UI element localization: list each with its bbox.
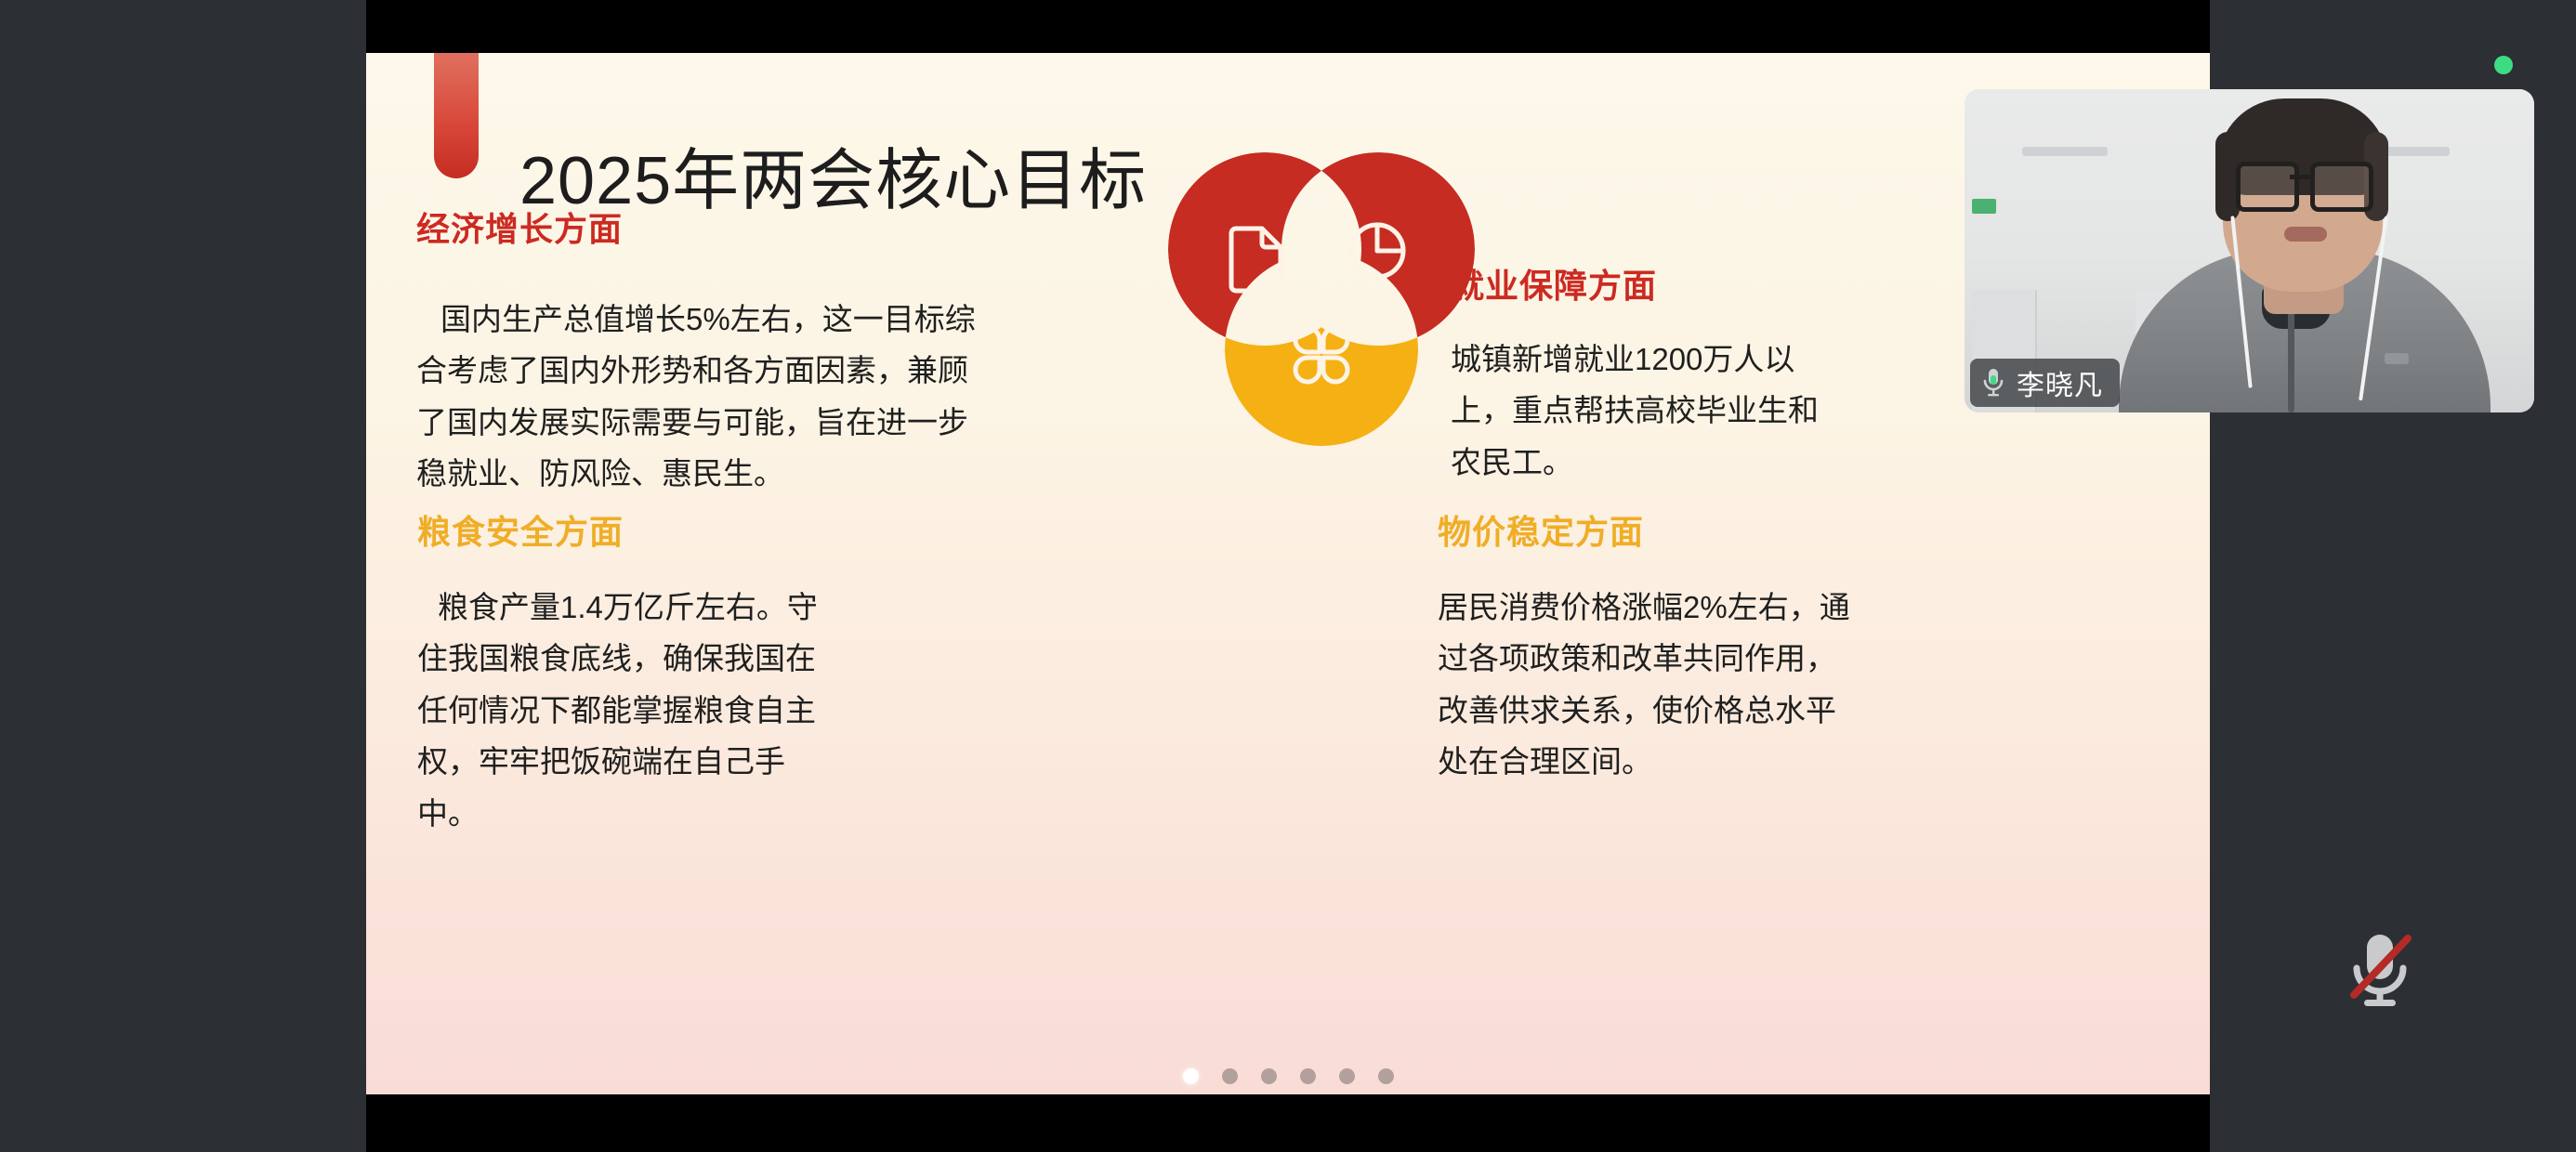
section-price-stability: 物价稳定方面 居民消费价格涨幅2%左右，通过各项政策和改革共同作用，改善供求关系… — [1438, 505, 2014, 788]
venn-diagram — [1163, 152, 1480, 470]
participant-name-label: 李晓凡 — [2017, 362, 2103, 403]
meeting-app-root: 2025年两会核心目标 经济增长方面 国内生产总值增长5%左右，这一目标综合考虑… — [0, 0, 2576, 1152]
pagination-dot[interactable] — [1261, 1068, 1277, 1084]
pagination-dot[interactable] — [1183, 1068, 1199, 1084]
participant-video-tile[interactable]: 李晓凡 — [1965, 89, 2534, 412]
pagination-dot[interactable] — [1300, 1068, 1316, 1084]
section-body-employment-security: 城镇新增就业1200万人以上，重点帮扶高校毕业生和农民工。 — [1451, 334, 1841, 488]
title-accent-bar — [434, 53, 479, 178]
microphone-icon — [1979, 367, 2007, 399]
exit-sign — [1972, 199, 1996, 214]
section-heading-food-security: 粮食安全方面 — [417, 505, 975, 554]
section-heading-economic-growth: 经济增长方面 — [416, 203, 1011, 251]
section-body-price-stability: 居民消费价格涨幅2%左右，通过各项政策和改革共同作用，改善供求关系，使价格总水平… — [1438, 582, 1865, 788]
section-economic-growth: 经济增长方面 国内生产总值增长5%左右，这一目标综合考虑了国内外形势和各方面因素… — [416, 203, 1011, 500]
section-heading-price-stability: 物价稳定方面 — [1438, 505, 2014, 554]
section-food-security: 粮食安全方面 粮食产量1.4万亿斤左右。守住我国粮食底线，确保我国在任何情况下都… — [417, 505, 975, 839]
pagination-dot[interactable] — [1339, 1068, 1355, 1084]
participant-jacket-zipper — [2288, 305, 2294, 412]
recording-status-dot — [2494, 56, 2513, 74]
participant-name-badge: 李晓凡 — [1970, 359, 2120, 407]
slide-pagination[interactable] — [366, 1057, 2210, 1094]
ceiling-light — [2022, 147, 2108, 156]
section-employment-security: 就业保障方面 城镇新增就业1200万人以上，重点帮扶高校毕业生和农民工。 — [1451, 259, 1971, 488]
section-body-food-security: 粮食产量1.4万亿斤左右。守住我国粮食底线，确保我国在任何情况下都能掌握粮食自主… — [417, 582, 826, 839]
glasses-lens — [2310, 162, 2373, 212]
section-heading-employment-security: 就业保障方面 — [1451, 259, 1971, 308]
jacket-brand-logo — [2385, 353, 2409, 364]
section-body-economic-growth: 国内生产总值增长5%左右，这一目标综合考虑了国内外形势和各方面因素，兼顾了国内发… — [416, 294, 988, 500]
pagination-dot[interactable] — [1378, 1068, 1394, 1084]
glasses-bridge — [2290, 175, 2310, 179]
slide-canvas[interactable]: 2025年两会核心目标 经济增长方面 国内生产总值增长5%左右，这一目标综合考虑… — [366, 53, 2210, 1094]
pagination-dot[interactable] — [1222, 1068, 1238, 1084]
glasses-lens — [2236, 162, 2299, 212]
microphone-muted-icon[interactable] — [2329, 918, 2431, 1020]
participant-mouth — [2284, 227, 2327, 242]
